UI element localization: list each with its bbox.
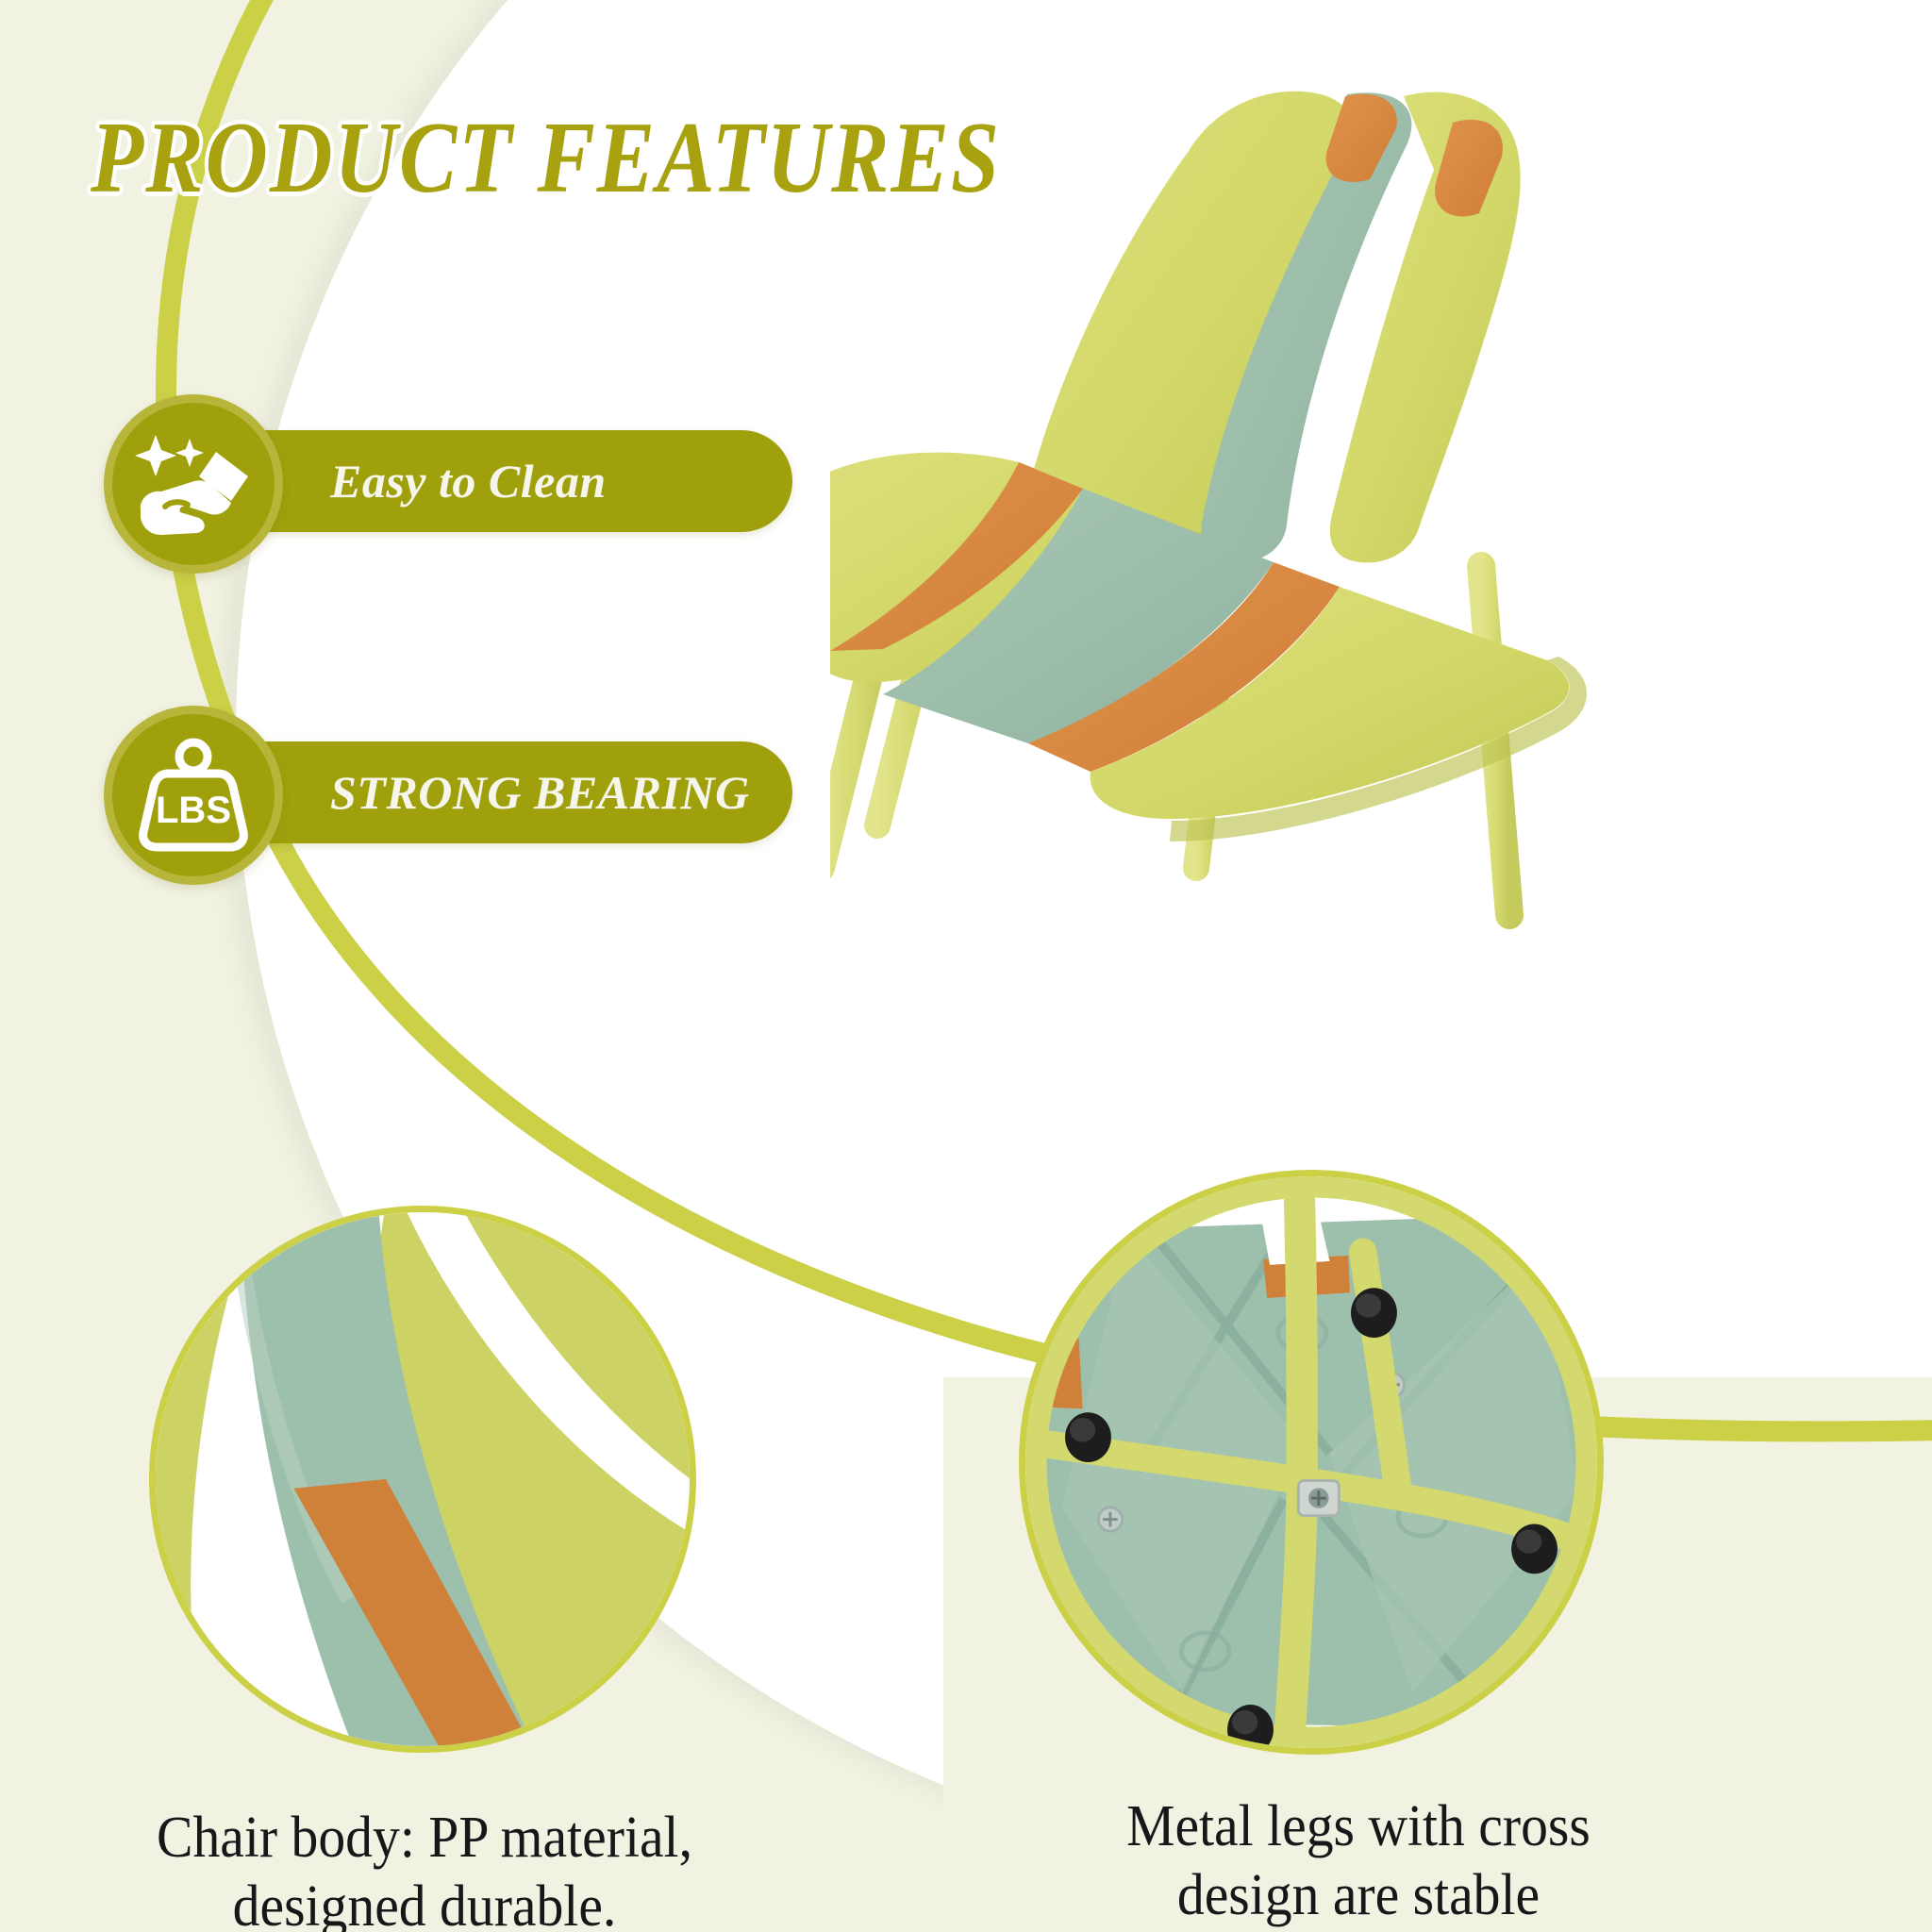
infographic-canvas: PRODUCT FEATURES Easy to Clean STRONG BE…: [0, 0, 1932, 1932]
feature-label-strong-bearing: STRONG BEARING: [330, 765, 750, 820]
caption-chair-body: Chair body: PP material, designed durabl…: [82, 1804, 766, 1932]
lbs-icon-text: LBS: [156, 790, 231, 831]
feature-icon-badge-easy-to-clean: [104, 394, 283, 574]
caption-chair-body-line2: designed durable.: [82, 1873, 766, 1932]
caption-metal-legs-line2: design are stable: [1008, 1861, 1709, 1930]
sparkle-hand-cleaning-icon: [133, 424, 254, 544]
caption-metal-legs-line1: Metal legs with cross: [1008, 1792, 1709, 1861]
detail-circle-metal-legs: [1019, 1170, 1604, 1755]
detail-circle-chair-body: [149, 1206, 696, 1753]
feature-icon-badge-strong-bearing: LBS: [104, 706, 283, 885]
caption-metal-legs: Metal legs with cross design are stable: [1008, 1792, 1709, 1930]
chair-body-closeup-illustration: [156, 1212, 690, 1746]
lbs-weight-icon: LBS: [134, 736, 253, 855]
feature-label-easy-to-clean: Easy to Clean: [330, 454, 607, 508]
center-hub-screw: [1298, 1481, 1339, 1516]
metal-legs-closeup-illustration: [1025, 1176, 1597, 1748]
caption-chair-body-line1: Chair body: PP material,: [82, 1804, 766, 1873]
page-title: PRODUCT FEATURES: [91, 98, 1001, 216]
